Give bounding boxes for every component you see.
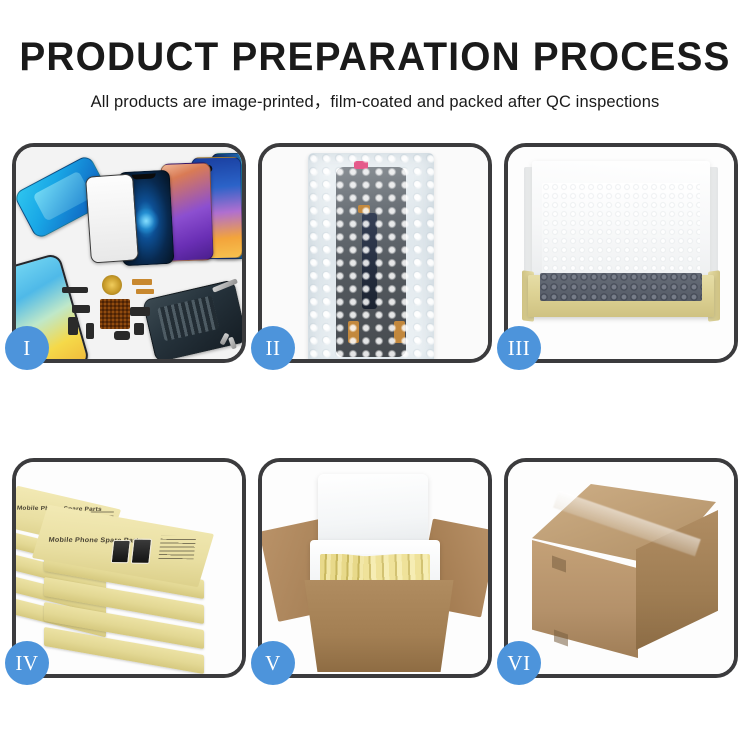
process-step-panel-3[interactable]: III [504,143,738,363]
vibration-motor-part [114,331,130,340]
stacked-boxes-scene: Mobile Phone Spare Parts Mobile Phone Sp… [16,462,242,674]
pink-tape-label [354,161,368,169]
box-print-text-lines-front [158,536,196,559]
step-image-bubble-wrap [262,147,488,359]
bubble-wrap-scene [262,147,488,359]
page-header: PRODUCT PREPARATION PROCESS All products… [0,0,750,112]
box-print-phone-front-2 [131,539,152,564]
flex-cable-1 [132,279,152,285]
camera-module-part [134,323,144,335]
phone-parts-scene [16,147,242,359]
bubble-wrap-bag [308,153,434,359]
flex-cable-2 [136,289,154,294]
carton-body [298,580,460,672]
speaker-coil-part [102,275,122,295]
step-image-inner-box [508,147,734,359]
foam-sheet [542,183,700,277]
step-image-screens-and-parts [16,147,242,359]
step-badge-5: V [251,641,295,685]
step-badge-1: I [5,326,49,370]
step-image-carton-packing [262,462,488,674]
earpiece-mesh-part [62,287,88,293]
process-step-panel-6[interactable]: VI [504,458,738,678]
wrapped-connector-top [358,205,370,213]
step-badge-2: II [251,326,295,370]
connector-part-1 [72,305,90,313]
wrapped-connector-left [348,321,359,343]
process-step-panel-5[interactable]: V [258,458,492,678]
screw-grid-plate [100,299,130,329]
connector-part-3 [86,323,94,339]
page-title: PRODUCT PREPARATION PROCESS [11,0,739,78]
carton-front-face [532,540,638,658]
wrapped-connector-right [394,321,405,343]
battery-connector-part [130,307,150,316]
process-step-panel-4[interactable]: Mobile Phone Spare Parts Mobile Phone Sp… [12,458,246,678]
page-subtitle: All products are image-printed，film-coat… [0,78,750,112]
box-print-phone-front-1 [111,540,131,563]
step-image-stacked-boxes: Mobile Phone Spare Parts Mobile Phone Sp… [16,462,242,674]
process-step-panel-2[interactable]: II [258,143,492,363]
bubble-wrapped-contents [540,273,702,301]
wrapped-flex-cable [362,213,377,309]
step-badge-4: IV [5,641,49,685]
process-steps-grid: I II [12,143,738,678]
carton-packing-scene [262,462,488,674]
step-badge-6: VI [497,641,541,685]
sealed-carton-scene [508,462,734,674]
connector-part-2 [68,317,78,335]
phone-glass-panel [85,173,139,263]
styrofoam-lid [318,474,428,550]
process-step-panel-1[interactable]: I [12,143,246,363]
phone-back-housing [142,279,242,359]
flat-box-scene [508,147,734,359]
step-badge-3: III [497,326,541,370]
step-image-sealed-carton [508,462,734,674]
